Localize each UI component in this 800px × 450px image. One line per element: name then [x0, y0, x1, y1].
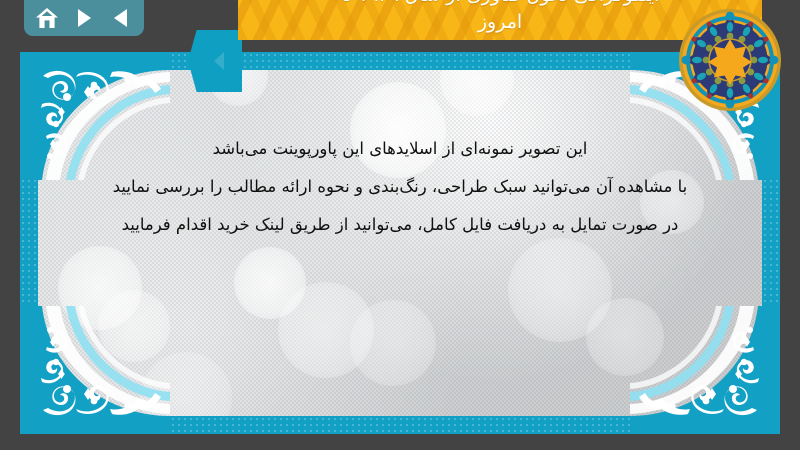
title-line: امروز	[478, 9, 522, 36]
triangle-left-icon	[114, 9, 127, 27]
previous-slide-button[interactable]	[107, 5, 134, 31]
title-line: اینفوگرافی تحول فناوری از سال ۱۹۳۹ تا	[341, 0, 660, 9]
next-slide-button[interactable]	[71, 5, 98, 31]
triangle-right-icon	[78, 9, 91, 27]
navigation-bar	[24, 0, 144, 36]
home-button[interactable]	[34, 5, 61, 31]
body-line: در صورت تمایل به دریافت فایل کامل، می‌تو…	[54, 206, 746, 244]
home-icon	[35, 7, 59, 29]
slide-viewer: این تصویر نمونه‌ای از اسلایدهای این پاور…	[0, 0, 800, 450]
slide-body-text: این تصویر نمونه‌ای از اسلایدهای این پاور…	[54, 130, 746, 244]
body-line: با مشاهده آن می‌توانید سبک طراحی، رنگ‌بن…	[54, 168, 746, 206]
slide-canvas: این تصویر نمونه‌ای از اسلایدهای این پاور…	[20, 52, 780, 434]
persian-mandala-icon	[678, 8, 782, 112]
body-line: این تصویر نمونه‌ای از اسلایدهای این پاور…	[54, 130, 746, 168]
